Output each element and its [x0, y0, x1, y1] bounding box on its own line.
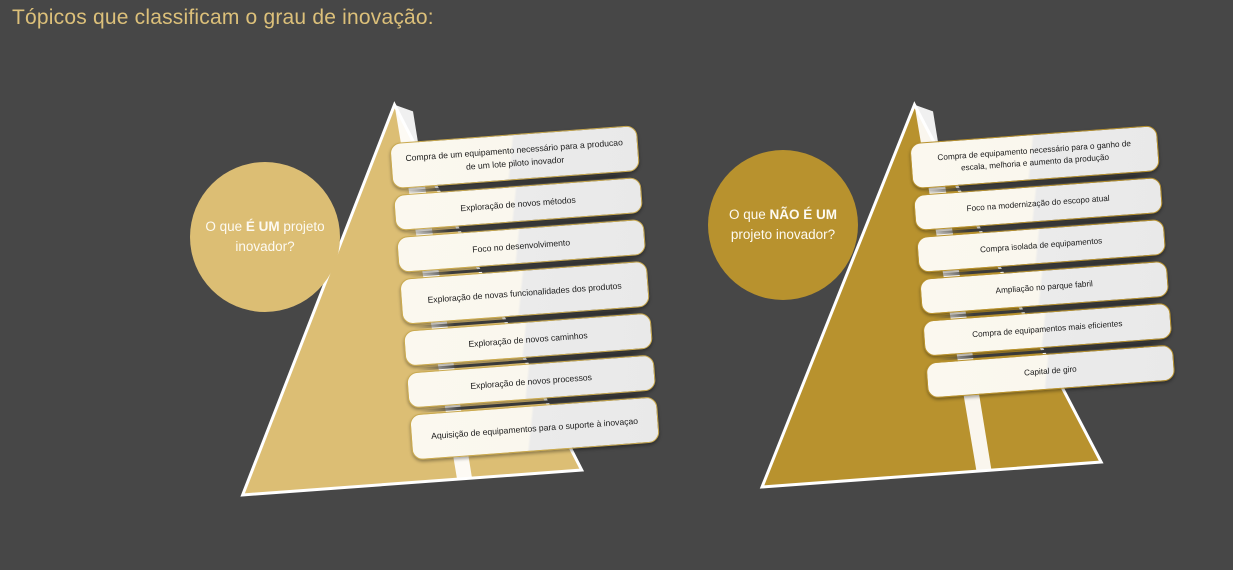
question-prefix: O que: [729, 207, 770, 222]
question-prefix: O que: [205, 219, 246, 234]
question-emphasis: NÃO É UM: [770, 207, 838, 222]
list-item-label: Ampliação no parque fabril: [995, 278, 1093, 297]
list-item[interactable]: Aquisição de equipamentos para o suporte…: [409, 396, 660, 460]
question-bubble-text: O que É UM projeto inovador?: [204, 217, 326, 256]
card-list-is-not-innovative: Compra de equipamento necessário para o …: [909, 125, 1176, 404]
question-bubble-is-innovative[interactable]: O que É UM projeto inovador?: [190, 162, 340, 312]
pyramid-group-is-innovative: Compra de um equipamento necessário para…: [160, 80, 720, 550]
list-item-label: Exploração de novos processos: [470, 371, 592, 393]
list-item-label: Capital de giro: [1024, 363, 1078, 379]
pyramid-tilt-wrapper: Compra de equipamento necessário para o …: [664, 60, 1233, 570]
question-bubble-is-not-innovative[interactable]: O que NÃO É UM projeto inovador?: [708, 150, 858, 300]
card-list-is-innovative: Compra de um equipamento necessário para…: [389, 125, 660, 466]
pyramid-group-is-not-innovative: Compra de equipamento necessário para o …: [680, 80, 1233, 550]
list-item-label: Exploração de novas funcionalidades dos …: [427, 279, 622, 306]
question-bubble-text: O que NÃO É UM projeto inovador?: [722, 205, 844, 244]
pyramid-tilt-wrapper: Compra de um equipamento necessário para…: [144, 60, 737, 570]
list-item-label: Compra de equipamento necessário para o …: [925, 137, 1144, 177]
list-item-label: Compra de um equipamento necessário para…: [405, 136, 624, 178]
list-item-label: Aquisição de equipamentos para o suporte…: [431, 414, 639, 442]
list-item-label: Compra de equipamentos mais eficientes: [972, 318, 1123, 341]
list-item-label: Foco na modernização do escopo atual: [966, 193, 1110, 216]
slide-canvas: Tópicos que classificam o grau de inovaç…: [0, 0, 1233, 562]
list-item-label: Exploração de novos caminhos: [468, 329, 588, 351]
question-emphasis: É UM: [246, 219, 280, 234]
list-item-label: Compra isolada de equipamentos: [980, 235, 1103, 256]
list-item-label: Foco no desenvolvimento: [472, 236, 571, 256]
page-title: Tópicos que classificam o grau de inovaç…: [12, 6, 434, 30]
question-suffix: projeto inovador?: [731, 227, 835, 242]
list-item-label: Exploração de novos métodos: [460, 193, 576, 214]
